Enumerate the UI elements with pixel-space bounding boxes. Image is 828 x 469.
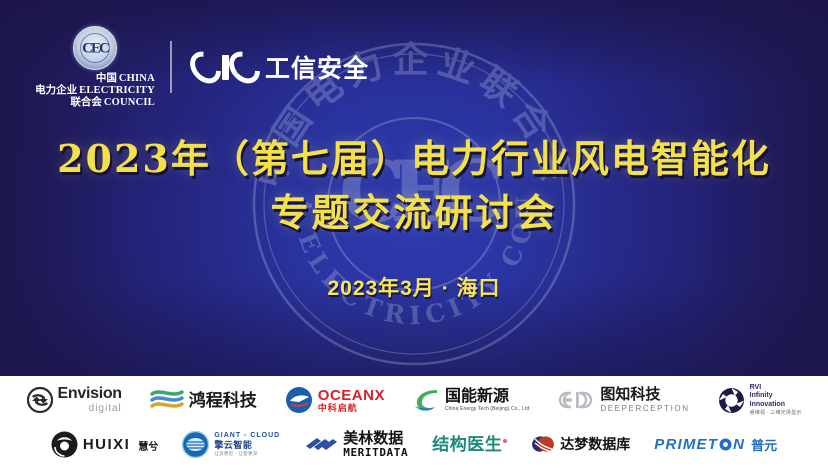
sponsor-name: OCEANX (318, 388, 385, 403)
giant-cloud-sphere-icon (182, 431, 209, 458)
cic-logo: ★ 工信安全 (192, 49, 370, 85)
sponsor-logo-giant-cloud: GIANT - CLOUD 擎云智能 让云更近 · 让智更深 (182, 427, 280, 461)
sponsor-logo-dameng: 达梦数据库 (531, 427, 630, 461)
sponsor-subname: 睿维视 · 三维光场显示 (750, 411, 802, 416)
cec-row-en-2: ELECTRICITY (79, 85, 155, 96)
sponsor-name: 鸿程科技 (189, 392, 257, 409)
primeton-o-icon (719, 438, 732, 451)
poster-subtitle: 2023年3月 · 海口 (0, 272, 828, 302)
sponsor-logo-oceanx: OCEANX 中科启航 (285, 383, 385, 417)
sponsor-name: GIANT - CLOUD (214, 432, 280, 439)
sponsor-name: 国能新源 (445, 389, 529, 405)
dameng-swirl-icon (531, 433, 555, 455)
header-divider (170, 41, 172, 93)
envision-swirl-icon (27, 387, 53, 413)
cec-row-cn-3: 联合会 (70, 96, 102, 108)
cec-emblem-icon: CEC (73, 26, 117, 70)
title-line-1: 2023年（第七届）电力行业风电智能化 (0, 132, 828, 186)
sponsor-name: Envision (58, 386, 122, 402)
conference-poster: 中国电力企业联合会 CHINA ELECTRICITY COUNCIL CEC … (0, 0, 828, 469)
sponsor-name: PRIMET (654, 436, 718, 453)
poster-title-block: 2023年（第七届）电力行业风电智能化 专题交流研讨会 (0, 132, 828, 240)
sponsor-name: 图知科技 (600, 387, 689, 402)
cec-logo-row: 中国 CHINA (35, 72, 155, 84)
cec-logo-text: 中国 CHINA 电力企业 ELECTRICITY 联合会 COUNCIL (35, 72, 155, 108)
deeperception-dp-icon (557, 390, 595, 410)
sponsor-logo-primeton: PRIMET N 普元 (654, 427, 777, 461)
sponsor-subname: digital (58, 404, 122, 414)
sponsor-logo-rvi: RVI Infinity Innovation 睿维视 · 三维光场显示 (718, 383, 802, 417)
sponsor-subname: 慧兮 (138, 438, 158, 453)
cec-row-cn-2: 电力企业 (35, 84, 77, 96)
sponsor-logo-envision: Envision digital (27, 383, 122, 417)
sponsor-footer: Envision digital 鸿程科技 (0, 376, 828, 469)
sponsor-name: 结构医生 (432, 436, 507, 453)
sponsor-name: 达梦数据库 (560, 437, 630, 451)
sponsor-subname: MERITDATA (343, 447, 408, 458)
sponsor-row-2: HUIXI 慧兮 GIANT - CLOUD 擎云智能 让云更近 · 让智更深 (0, 422, 828, 466)
sponsor-logo-meritdata: 美林数据 MERITDATA (304, 427, 408, 461)
sponsor-logo-jiegou-yisheng: 结构医生 (432, 427, 507, 461)
sponsor-logo-guoneng: 国能新源 China Energy Tech (Beijing) Co., Lt… (413, 383, 529, 417)
sponsor-name: HUIXI (83, 436, 131, 453)
sponsor-subname: 普元 (751, 435, 777, 454)
sponsor-name: RVI Infinity Innovation (750, 384, 802, 410)
oceanx-circle-icon (285, 386, 313, 414)
sponsor-subname: 让云更近 · 让智更深 (214, 452, 280, 457)
cec-logo-row: 电力企业 ELECTRICITY (35, 84, 155, 96)
hongcheng-waves-icon (150, 387, 184, 413)
sponsor-logo-huixi: HUIXI 慧兮 (51, 427, 159, 461)
cec-logo: CEC 中国 CHINA 电力企业 ELECTRICITY 联合会 COUNCI… (40, 26, 150, 108)
guoneng-leaf-icon (413, 387, 440, 413)
rvi-aperture-icon (718, 387, 745, 414)
header-logos: CEC 中国 CHINA 电力企业 ELECTRICITY 联合会 COUNCI… (40, 26, 369, 108)
title-line-2: 专题交流研讨会 (0, 186, 828, 240)
sponsor-row-1: Envision digital 鸿程科技 (0, 376, 828, 422)
huixi-globe-icon (51, 431, 78, 458)
primeton-suffix: N (733, 436, 745, 453)
cec-logo-row: 联合会 COUNCIL (35, 96, 155, 108)
cic-name-cn: 工信安全 (265, 49, 369, 85)
sponsor-subname: China Energy Tech (Beijing) Co., Ltd (445, 407, 529, 412)
sponsor-logo-hongcheng: 鸿程科技 (150, 383, 257, 417)
sponsor-subname: 中科启航 (318, 404, 385, 413)
cec-row-cn-1: 中国 (96, 72, 117, 84)
cec-row-en-1: CHINA (119, 73, 155, 84)
cec-row-en-3: COUNCIL (104, 97, 155, 108)
cic-wordmark-icon: ★ (192, 50, 259, 85)
sponsor-midname: 擎云智能 (214, 441, 280, 450)
cec-emblem-text: CEC (82, 40, 108, 57)
jiegou-dot-icon (503, 439, 507, 443)
meritdata-stripes-icon (304, 432, 338, 456)
sponsor-subname: DEEPERCEPTION (600, 405, 689, 413)
sponsor-logo-tuzhi: 图知科技 DEEPERCEPTION (557, 383, 689, 417)
sponsor-name: 美林数据 (343, 431, 408, 446)
